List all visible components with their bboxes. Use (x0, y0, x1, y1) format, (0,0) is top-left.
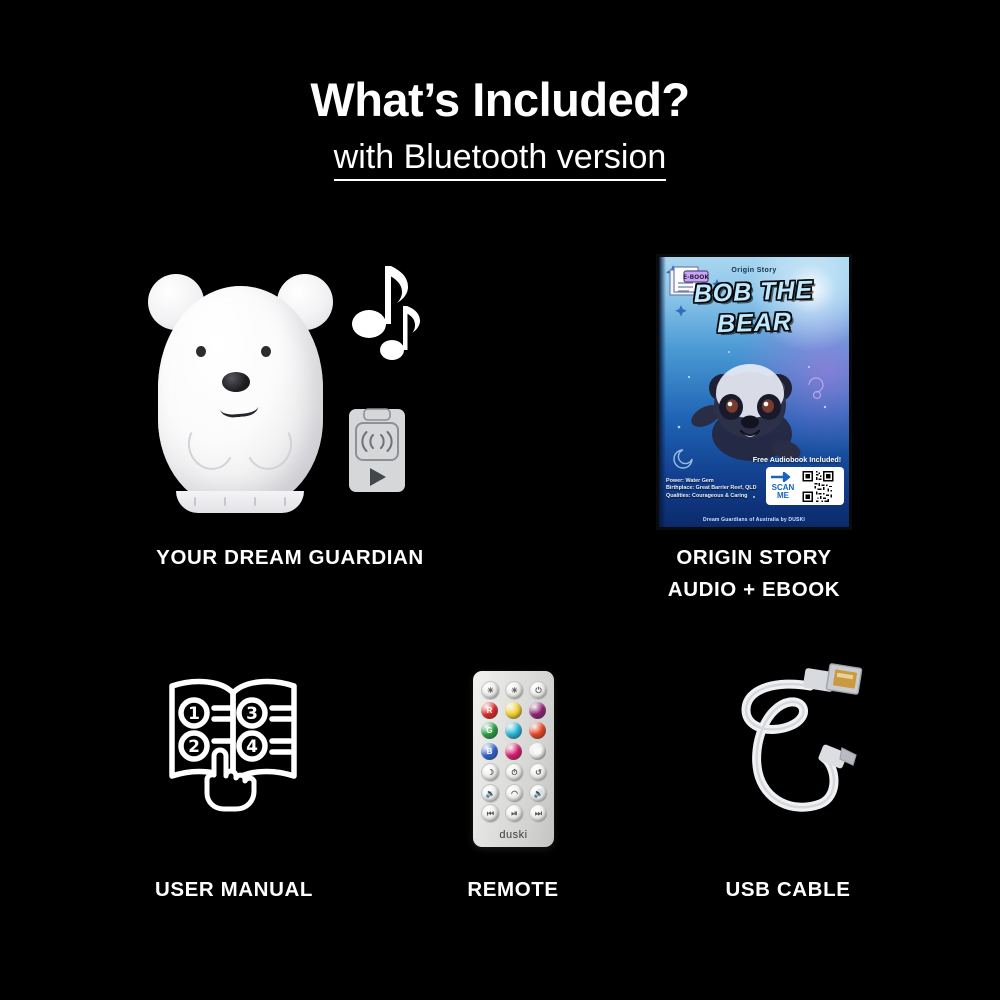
caption-dream-guardian: YOUR DREAM GUARDIAN (90, 542, 490, 574)
remote-button-volume-down[interactable]: 🔉 (481, 784, 500, 803)
book-title-line1: BOB THE (659, 277, 849, 309)
manual-step-2: 2 (188, 737, 200, 757)
remote-button-timer[interactable]: ⏱ (505, 763, 524, 782)
remote-control[interactable]: ☀☀⏻RGBW☽⏱↺🔉◠🔊⏮⏯⏭ duski (473, 671, 554, 847)
bear-base (176, 491, 304, 513)
remote-button-previous-track[interactable]: ⏮ (481, 804, 500, 823)
remote-button-next-track[interactable]: ⏭ (529, 804, 548, 823)
bear-nose (222, 372, 250, 392)
bear-eye-left (196, 346, 206, 357)
music-notes-icon (334, 262, 424, 370)
remote-button-yellow[interactable] (505, 702, 522, 719)
scan-me-badge[interactable]: SCAN ME (766, 467, 844, 505)
remote-button-purple[interactable] (529, 702, 546, 719)
remote-button-green[interactable]: G (481, 722, 498, 739)
bear-vent (254, 497, 256, 506)
remote-button-magenta[interactable] (505, 743, 522, 760)
remote-button-rainbow-mode[interactable]: ◠ (505, 784, 524, 803)
remote-button-cyan[interactable] (505, 722, 522, 739)
qr-code-icon[interactable] (801, 471, 835, 502)
manual-step-1: 1 (188, 704, 200, 724)
scan-me-label: SCAN ME (766, 472, 800, 501)
book-footer: Dream Guardians of Australia by DUSKI (659, 517, 849, 523)
micro-usb-connector (818, 744, 856, 770)
book-attributes: Power: Water Gem Birthplace: Great Barri… (666, 478, 758, 500)
remote-button-play-pause[interactable]: ⏯ (505, 804, 524, 823)
remote-button-power[interactable]: ⏻ (529, 681, 548, 700)
remote-brand-label: duski (473, 829, 554, 841)
manual-step-3: 3 (246, 704, 258, 724)
remote-button-brightness-down[interactable]: ☀ (481, 681, 500, 700)
arrow-right-icon (770, 472, 796, 482)
bear-vent (194, 497, 196, 506)
remote-button-timer-off[interactable]: ↺ (529, 763, 548, 782)
user-manual-icon: 1 2 3 4 (156, 668, 311, 813)
book-audiobook-note: Free Audiobook Included! (751, 456, 843, 465)
caption-remote: REMOTE (363, 874, 663, 906)
remote-button-sleep-moon[interactable]: ☽ (481, 763, 500, 782)
book-title: BOB THE BEAR (659, 277, 849, 340)
book-kicker: Origin Story (659, 267, 849, 274)
bear-night-light (148, 268, 333, 513)
page-title: What’s Included? (0, 72, 1000, 127)
usb-cable (728, 662, 870, 824)
page-subtitle: with Bluetooth version (0, 138, 1000, 177)
whats-included-infographic: What’s Included? with Bluetooth version (0, 0, 1000, 1000)
remote-button-volume-up[interactable]: 🔊 (529, 784, 548, 803)
caption-origin-story: ORIGIN STORY AUDIO + EBOOK (604, 542, 904, 606)
caption-origin-story-line1: ORIGIN STORY (604, 542, 904, 574)
scan-me-text: SCAN ME (766, 484, 800, 501)
origin-story-book-cover: E-BOOK Origin Story BOB THE BEAR (659, 257, 849, 527)
manual-step-4: 4 (246, 737, 258, 757)
caption-origin-story-line2: AUDIO + EBOOK (604, 574, 904, 606)
bear-vent (224, 497, 226, 506)
caption-usb-cable: USB CABLE (638, 874, 938, 906)
bear-vent (284, 497, 286, 506)
audio-player-icon (348, 408, 406, 493)
caption-user-manual: USER MANUAL (54, 874, 414, 906)
remote-button-white[interactable]: W (529, 743, 546, 760)
bear-eye-right (261, 346, 271, 357)
remote-button-red[interactable]: R (481, 702, 498, 719)
page-subtitle-text: with Bluetooth version (334, 138, 667, 181)
remote-button-orange-red[interactable] (529, 722, 546, 739)
remote-button-brightness-up[interactable]: ☀ (505, 681, 524, 700)
remote-button-blue[interactable]: B (481, 743, 498, 760)
